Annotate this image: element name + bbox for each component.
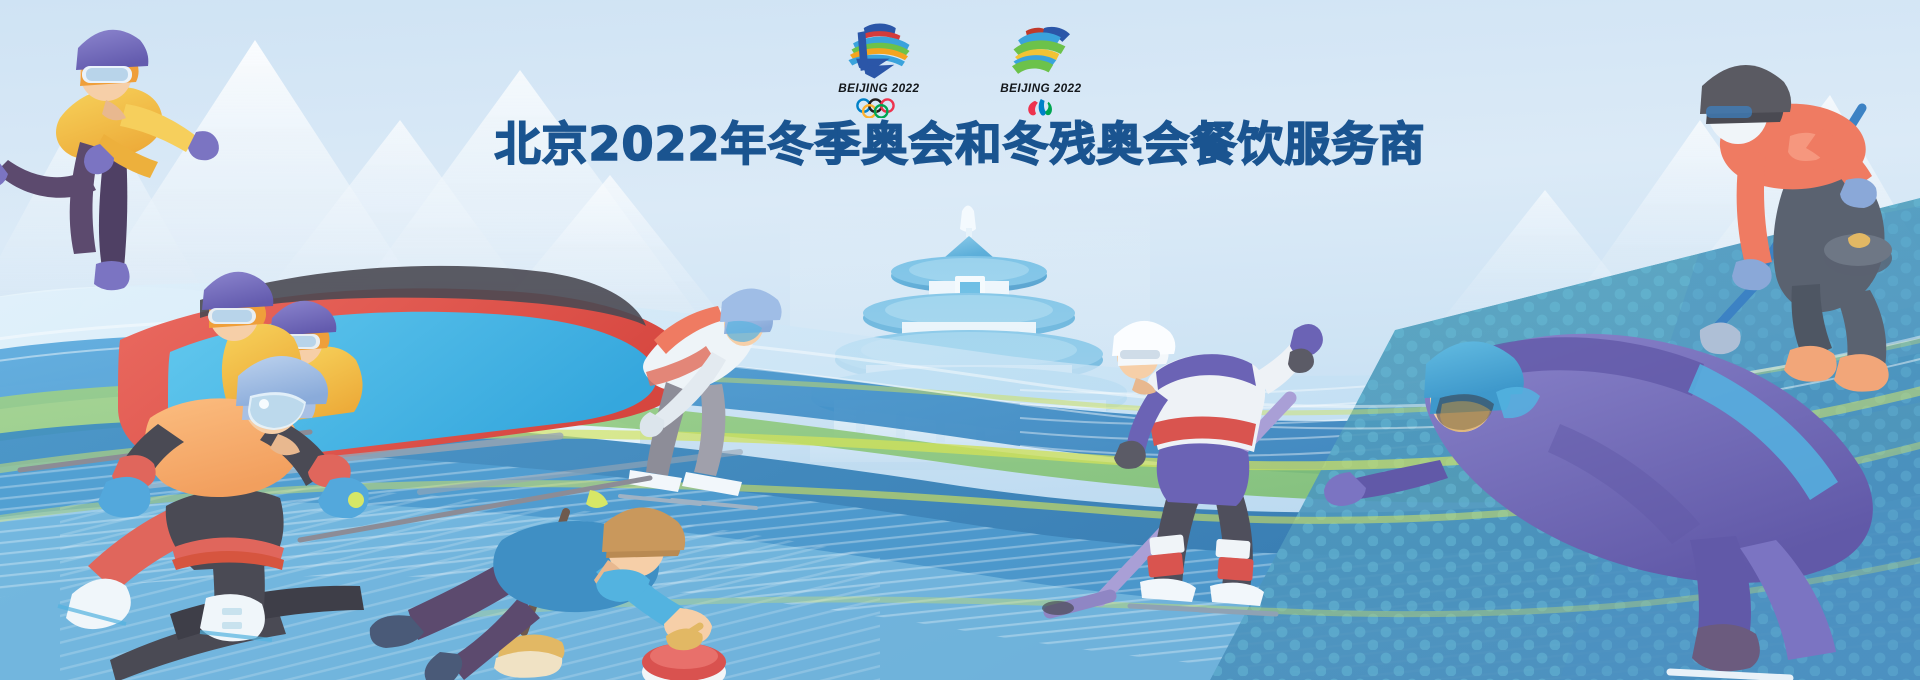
paralympic-agitos-icon [1017, 98, 1065, 118]
curling-stone [642, 626, 726, 680]
olympic-emblem: BEIJING 2022 [831, 22, 927, 118]
emblems-row: BEIJING 2022 B [0, 22, 1920, 118]
ice-hockey-player [1042, 321, 1323, 615]
speed-skater-large [1324, 334, 1873, 678]
olympic-rings-icon [855, 98, 903, 118]
page-title: 北京2022年冬季奥会和冬残奥会餐饮服务商 [0, 118, 1920, 171]
winter-dream-ribbon-icon [840, 22, 918, 80]
olympic-wordmark: BEIJING 2022 [838, 83, 919, 95]
flying-ribbon-icon [1002, 22, 1080, 80]
paralympic-wordmark: BEIJING 2022 [1000, 83, 1081, 95]
beijing-2022-banner: BEIJING 2022 B [0, 0, 1920, 680]
paralympic-emblem: BEIJING 2022 [993, 22, 1089, 118]
